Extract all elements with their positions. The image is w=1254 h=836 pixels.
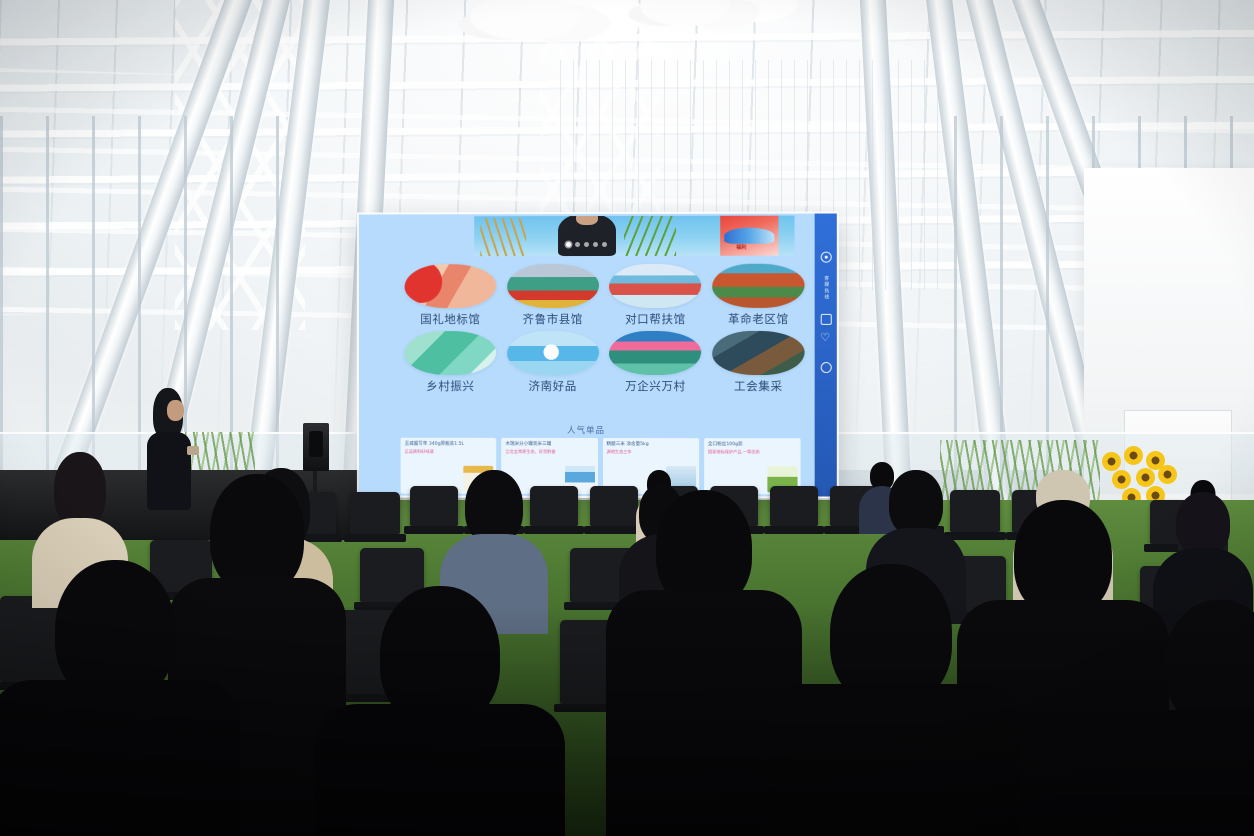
pavilion-label: 国礼地标馆	[405, 311, 497, 327]
pavilion-label: 工会集采	[712, 378, 804, 394]
pavilion-illustration	[712, 264, 804, 308]
product-subtitle: 国家地标保护产品 一等优质	[708, 449, 797, 455]
carousel-dot[interactable]	[593, 242, 598, 247]
pavilion-tile[interactable]: 齐鲁市县馆	[507, 264, 599, 327]
side-rail-label: 客服热线	[823, 276, 829, 301]
banner-reeds-right	[624, 216, 676, 256]
pavilion-tile[interactable]: 万企兴万村	[609, 331, 701, 394]
pavilion-illustration	[405, 331, 497, 375]
pavilion-illustration	[507, 264, 599, 308]
carousel-dot-active[interactable]	[566, 242, 571, 247]
event-photo-scene: 福利 国礼地标馆 齐鲁市县馆	[0, 0, 1254, 836]
carousel-dot[interactable]	[575, 242, 580, 247]
audience-person-foreground	[1130, 600, 1254, 836]
product-subtitle: 江北五常原生态，好货鲜香	[505, 449, 593, 455]
pa-loudspeaker	[303, 423, 329, 471]
carousel-dot[interactable]	[584, 242, 589, 247]
pavilion-illustration	[609, 264, 701, 308]
popular-items-heading: 人气单品	[359, 424, 815, 437]
pavilion-label: 乡村振兴	[405, 378, 497, 394]
pavilion-label: 万企兴万村	[609, 378, 701, 394]
promo-card-label: 福利	[736, 244, 746, 251]
audience-person-foreground	[0, 560, 230, 836]
pavilion-illustration	[609, 331, 701, 375]
promo-card[interactable]: 福利	[720, 216, 778, 256]
carousel-dot[interactable]	[602, 242, 607, 247]
screen-content: 福利 国礼地标馆 齐鲁市县馆	[359, 214, 815, 497]
heart-icon[interactable]	[820, 338, 831, 349]
audience-person-foreground	[330, 586, 550, 836]
product-name: 精酿三米 净含量5kg	[606, 442, 694, 448]
gear-icon[interactable]	[820, 252, 831, 263]
product-name: 全口粉丝100g装	[708, 442, 797, 448]
chair	[350, 492, 400, 534]
pavilion-row: 乡村振兴 济南好品 万企兴万村 工会集采	[405, 331, 805, 394]
cart-icon[interactable]	[820, 314, 831, 325]
projection-screen: 福利 国礼地标馆 齐鲁市县馆	[359, 213, 837, 496]
pavilion-tile[interactable]: 国礼地标馆	[405, 264, 497, 327]
pavilion-tile[interactable]: 济南好品	[507, 331, 599, 394]
carousel-dots[interactable]	[566, 242, 607, 247]
pavilion-tile[interactable]: 革命老区馆	[712, 264, 804, 327]
product-name: 玉城酱写年 340g原瓶装1.5L	[405, 442, 493, 448]
pavilion-tile[interactable]: 乡村振兴	[405, 331, 497, 394]
pavilion-label: 对口帮扶馆	[609, 311, 701, 327]
history-icon[interactable]	[820, 362, 831, 373]
banner-reeds-left	[480, 218, 526, 256]
pavilion-illustration	[507, 331, 599, 375]
product-subtitle: 源地生态三年	[606, 449, 694, 455]
pavilion-grid: 国礼地标馆 齐鲁市县馆 对口帮扶馆 革命老区馆	[405, 264, 805, 398]
pavilion-illustration	[712, 331, 804, 375]
pavilion-label: 齐鲁市县馆	[507, 311, 599, 327]
promo-wave-graphic	[724, 228, 774, 244]
pavilion-tile[interactable]: 对口帮扶馆	[609, 264, 701, 327]
pavilion-label: 济南好品	[507, 378, 599, 394]
pavilion-tile[interactable]: 工会集采	[712, 331, 804, 394]
screen-side-rail: 客服热线	[815, 213, 837, 496]
presenter-microphone	[187, 446, 199, 455]
pavilion-label: 革命老区馆	[712, 311, 804, 327]
pavilion-illustration	[405, 264, 497, 308]
presenter-face	[167, 400, 184, 421]
pavilion-row: 国礼地标馆 齐鲁市县馆 对口帮扶馆 革命老区馆	[405, 264, 805, 327]
banner-person	[558, 216, 616, 256]
product-subtitle: 正品原料好味道	[405, 449, 493, 455]
audience-person-foreground	[778, 564, 1004, 836]
product-name: 木瑞米分小罐装米三罐	[505, 442, 593, 448]
